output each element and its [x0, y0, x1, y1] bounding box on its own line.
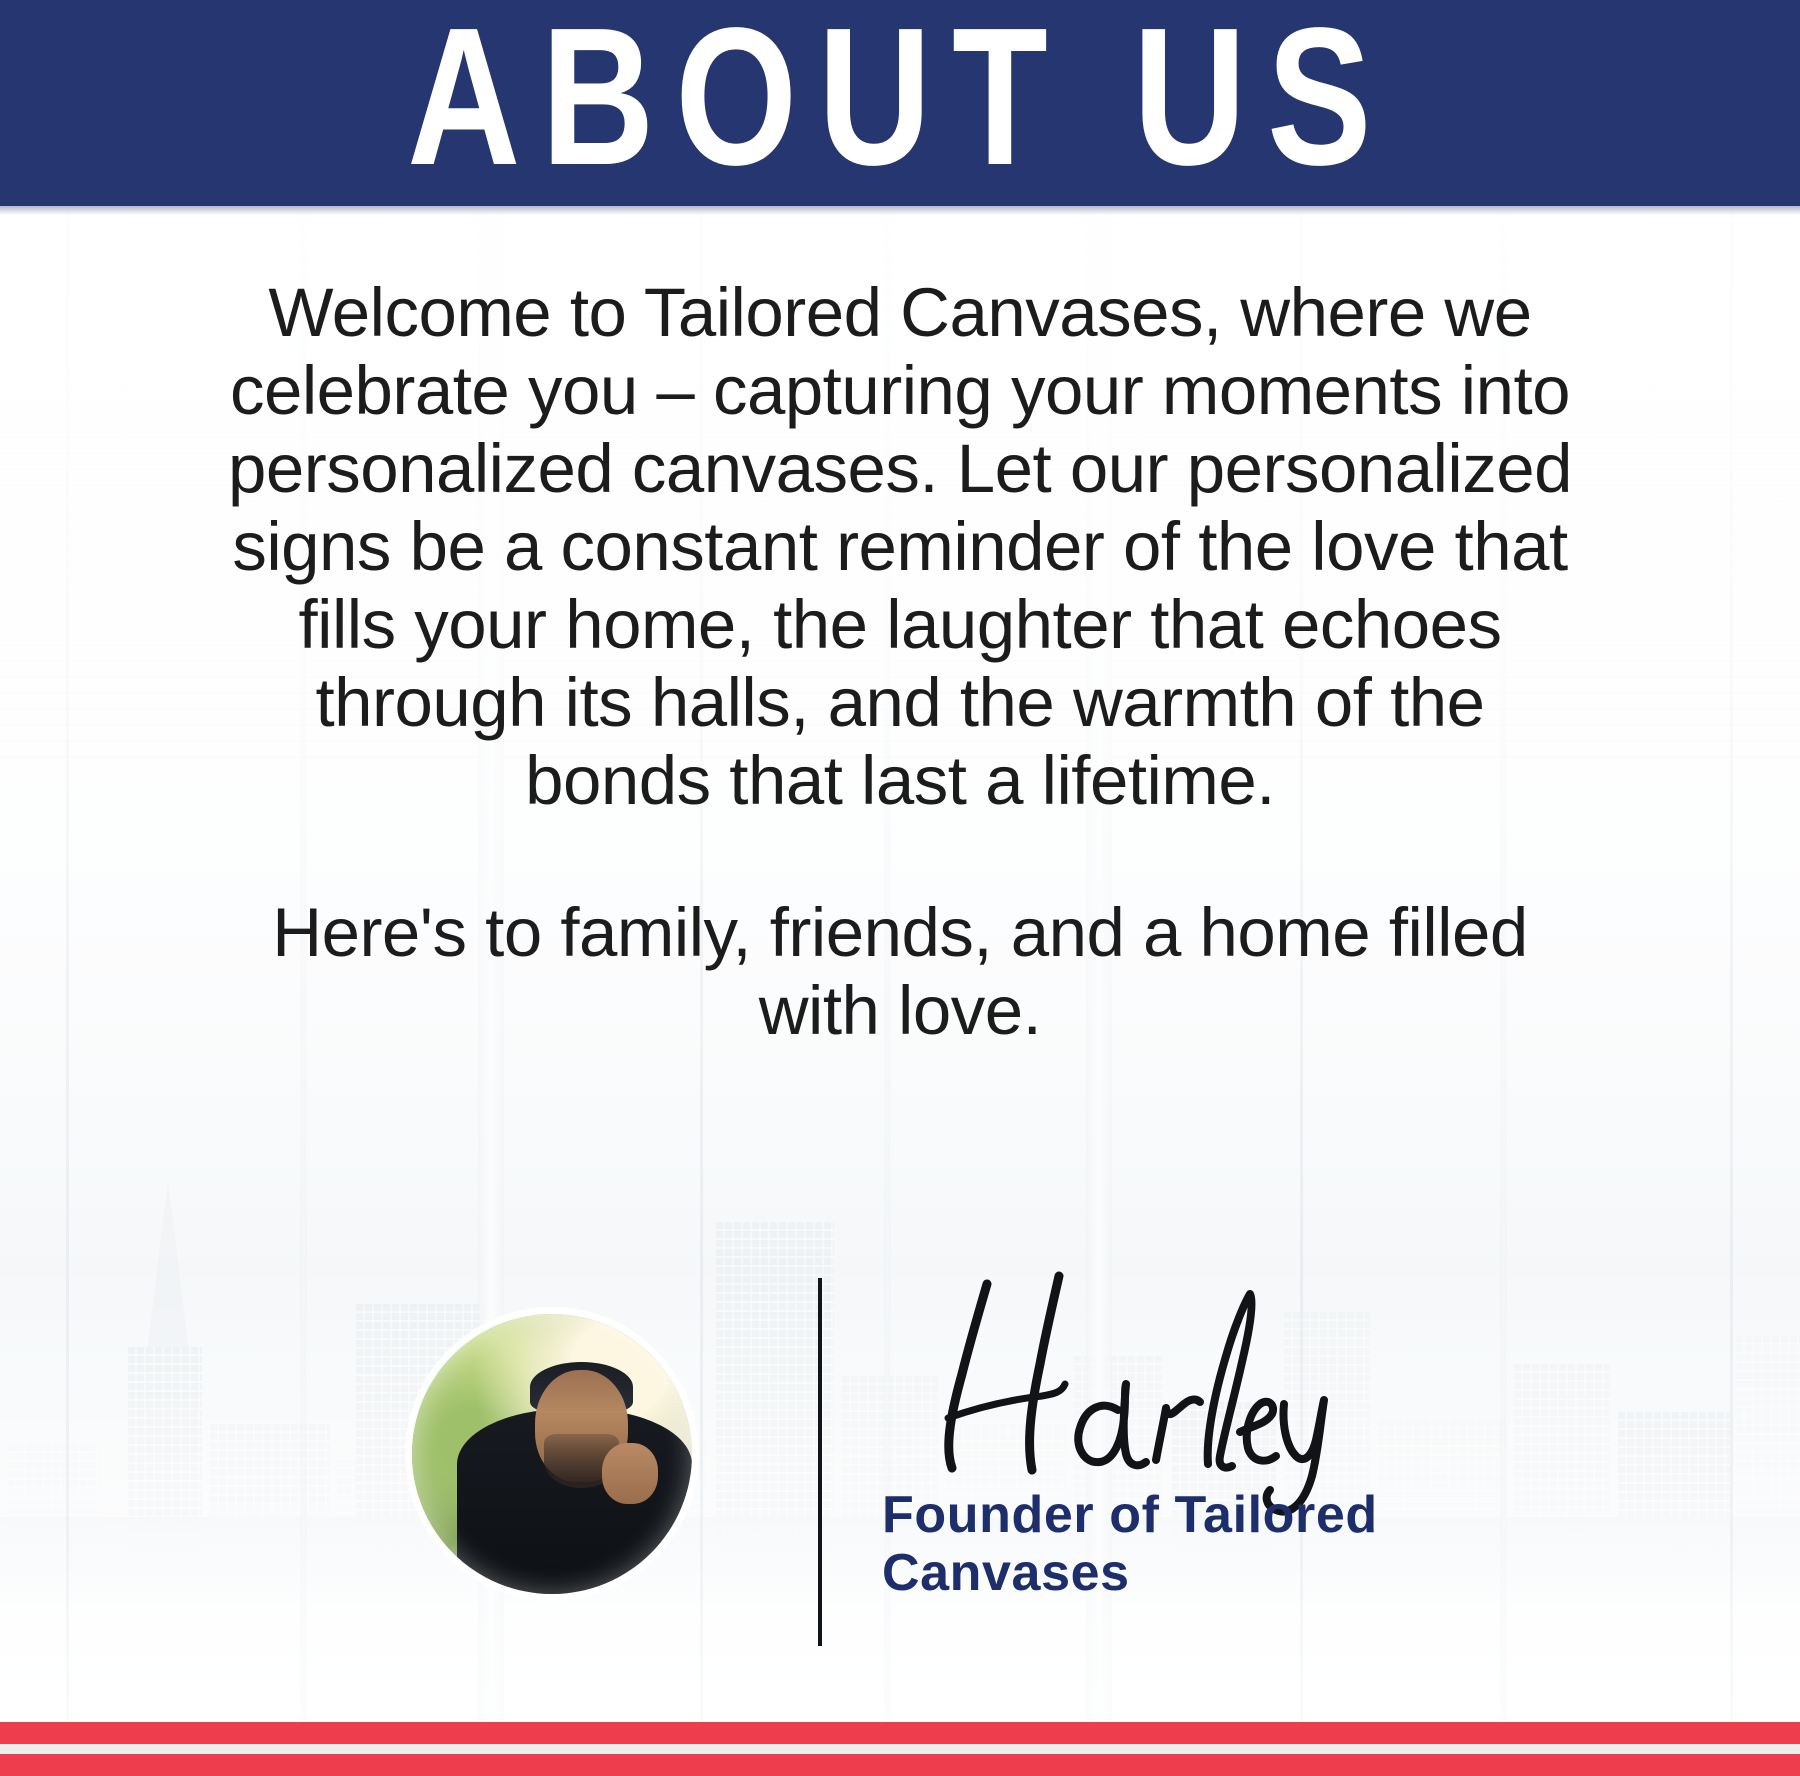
paragraph-spacer — [216, 820, 1584, 894]
founder-title: Founder of Tailored Canvases — [882, 1486, 1502, 1602]
paragraph-closing: Here's to family, friends, and a home fi… — [216, 894, 1584, 1050]
accent-bar-gap — [0, 1744, 1800, 1754]
founder-title-line-2: Canvases — [882, 1544, 1502, 1602]
signature-icon — [856, 1232, 1356, 1512]
vertical-divider — [818, 1278, 822, 1646]
about-us-copy: Welcome to Tailored Canvases, where we c… — [216, 274, 1584, 1050]
header-shadow — [0, 206, 1800, 215]
founder-title-line-1: Founder of Tailored — [882, 1486, 1502, 1544]
paragraph-intro: Welcome to Tailored Canvases, where we c… — [216, 274, 1584, 820]
accent-bar-top — [0, 1722, 1800, 1744]
header-bar: ABOUT US — [0, 0, 1800, 206]
founder-signature — [856, 1232, 1356, 1512]
founder-avatar — [412, 1314, 692, 1594]
avatar-inner-glow — [412, 1314, 692, 1594]
page-title: ABOUT US — [407, 0, 1392, 195]
accent-bar-bottom — [0, 1754, 1800, 1776]
about-us-poster: ABOUT US Welcome to Tailored Canvases, w… — [0, 0, 1800, 1776]
